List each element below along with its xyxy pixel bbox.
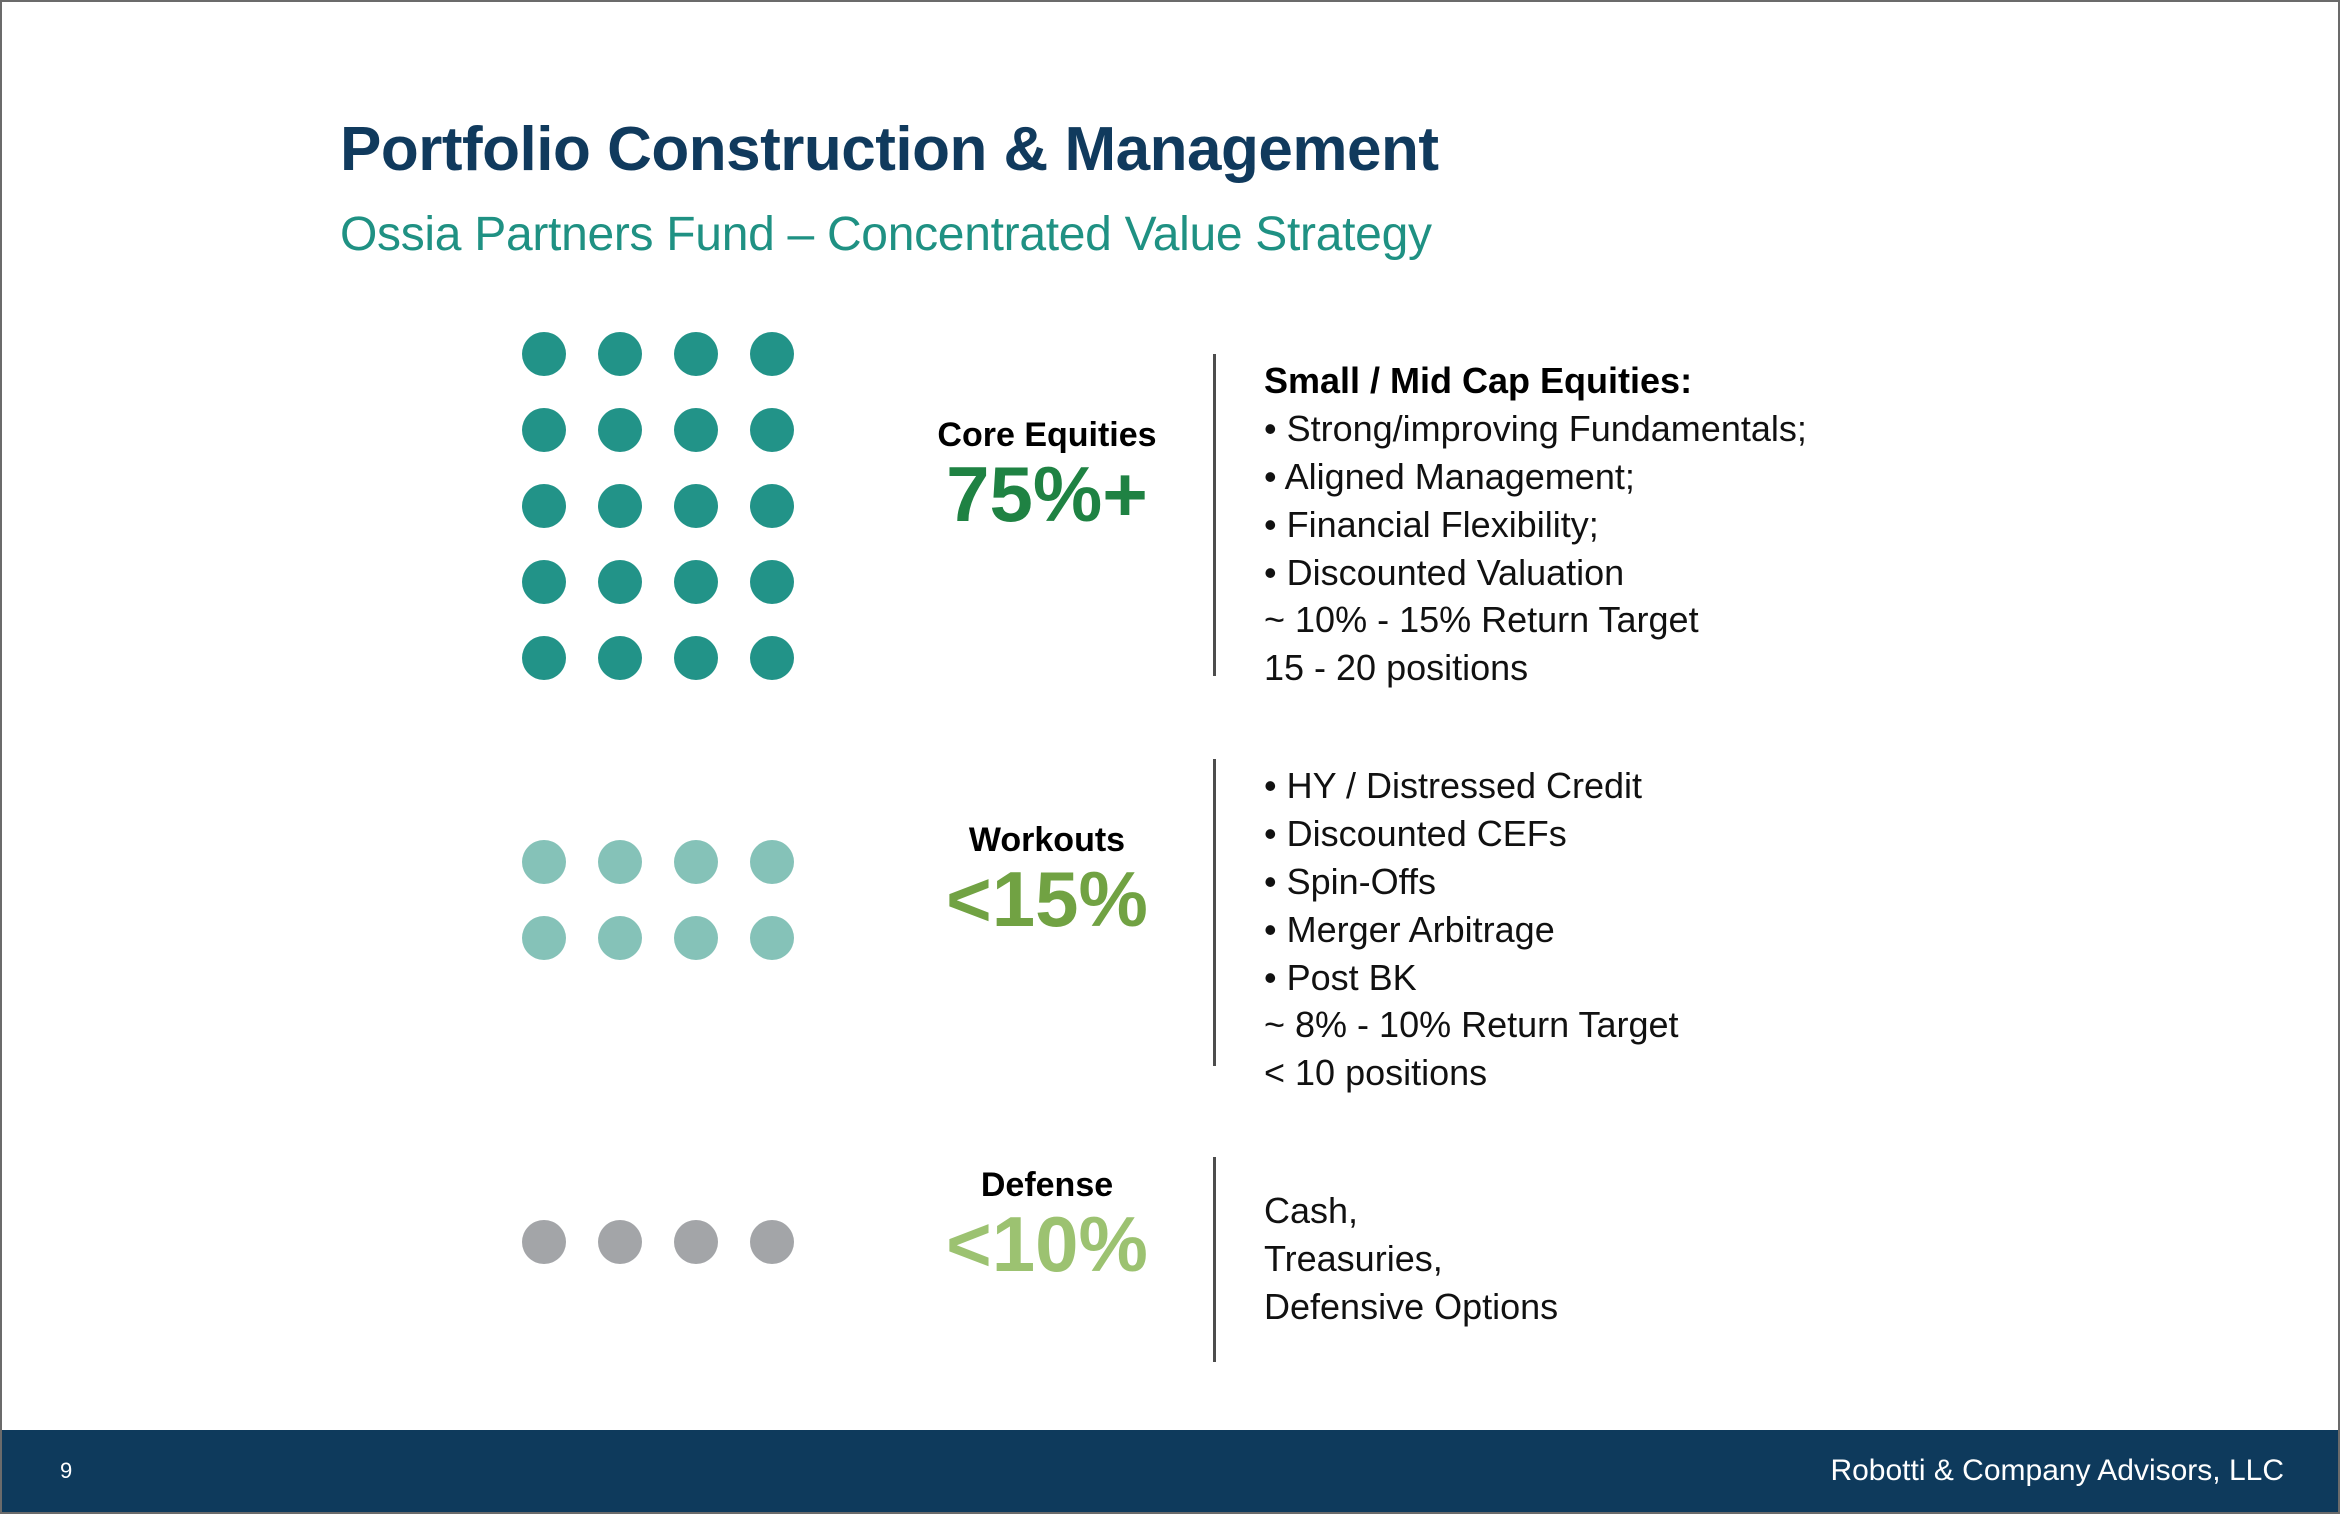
dot-marker (674, 560, 718, 604)
dot-marker (522, 1220, 566, 1264)
detail-list-defense: Cash, Treasuries, Defensive Options (1264, 1187, 1558, 1331)
dot-marker (674, 840, 718, 884)
slide: Portfolio Construction & Management Ossi… (0, 0, 2340, 1514)
section-divider (1213, 354, 1216, 676)
detail-item: • Merger Arbitrage (1264, 906, 1679, 954)
dot-marker (674, 916, 718, 960)
dot-marker (598, 332, 642, 376)
detail-list-workouts: • HY / Distressed Credit • Discounted CE… (1264, 762, 1679, 1097)
dot-marker (750, 408, 794, 452)
dot-marker (522, 484, 566, 528)
dot-marker (750, 484, 794, 528)
detail-list-core-equities: Small / Mid Cap Equities: • Strong/impro… (1264, 357, 1807, 692)
dot-marker (522, 636, 566, 680)
dot-marker (522, 560, 566, 604)
dot-marker (674, 484, 718, 528)
page-number: 9 (60, 1458, 72, 1484)
page-title: Portfolio Construction & Management (340, 114, 1439, 185)
detail-item: • Aligned Management; (1264, 453, 1807, 501)
dot-marker (598, 484, 642, 528)
detail-item: < 10 positions (1264, 1049, 1679, 1097)
dot-grid-workouts (522, 840, 826, 992)
category-value: <10% (837, 1204, 1257, 1286)
category-value: <15% (837, 859, 1257, 941)
detail-item: • Discounted Valuation (1264, 549, 1807, 597)
detail-item: Treasuries, (1264, 1235, 1558, 1283)
footer-bar: 9 Robotti & Company Advisors, LLC (2, 1430, 2340, 1512)
section-divider (1213, 1157, 1216, 1362)
category-value: 75%+ (837, 454, 1257, 536)
dot-grid-defense (522, 1220, 826, 1296)
section-divider (1213, 759, 1216, 1066)
dot-marker (522, 840, 566, 884)
dot-grid-core-equities (522, 332, 826, 712)
dot-marker (674, 332, 718, 376)
dot-marker (750, 840, 794, 884)
detail-heading: Small / Mid Cap Equities: (1264, 357, 1807, 405)
detail-item: ~ 10% - 15% Return Target (1264, 596, 1807, 644)
detail-item: • Post BK (1264, 954, 1679, 1002)
label-column-workouts: Workouts <15% (837, 822, 1257, 941)
dot-marker (674, 408, 718, 452)
detail-item: • Spin-Offs (1264, 858, 1679, 906)
dot-marker (674, 1220, 718, 1264)
dot-marker (598, 560, 642, 604)
label-column-core-equities: Core Equities 75%+ (837, 417, 1257, 536)
detail-item: 15 - 20 positions (1264, 644, 1807, 692)
detail-item: Defensive Options (1264, 1283, 1558, 1331)
dot-marker (674, 636, 718, 680)
dot-marker (598, 636, 642, 680)
detail-item: • Discounted CEFs (1264, 810, 1679, 858)
dot-marker (750, 1220, 794, 1264)
detail-item: • Financial Flexibility; (1264, 501, 1807, 549)
category-label: Workouts (837, 822, 1257, 859)
detail-item: Cash, (1264, 1187, 1558, 1235)
dot-marker (598, 840, 642, 884)
category-label: Defense (837, 1167, 1257, 1204)
footer-brand: Robotti & Company Advisors, LLC (1830, 1454, 2284, 1488)
detail-item: ~ 8% - 10% Return Target (1264, 1001, 1679, 1049)
detail-item: • Strong/improving Fundamentals; (1264, 405, 1807, 453)
dot-marker (750, 560, 794, 604)
dot-marker (522, 408, 566, 452)
dot-marker (522, 916, 566, 960)
dot-marker (598, 1220, 642, 1264)
dot-marker (598, 408, 642, 452)
category-label: Core Equities (837, 417, 1257, 454)
page-subtitle: Ossia Partners Fund – Concentrated Value… (340, 207, 1432, 262)
dot-marker (750, 916, 794, 960)
dot-marker (598, 916, 642, 960)
label-column-defense: Defense <10% (837, 1167, 1257, 1286)
dot-marker (750, 636, 794, 680)
dot-marker (750, 332, 794, 376)
detail-item: • HY / Distressed Credit (1264, 762, 1679, 810)
dot-marker (522, 332, 566, 376)
